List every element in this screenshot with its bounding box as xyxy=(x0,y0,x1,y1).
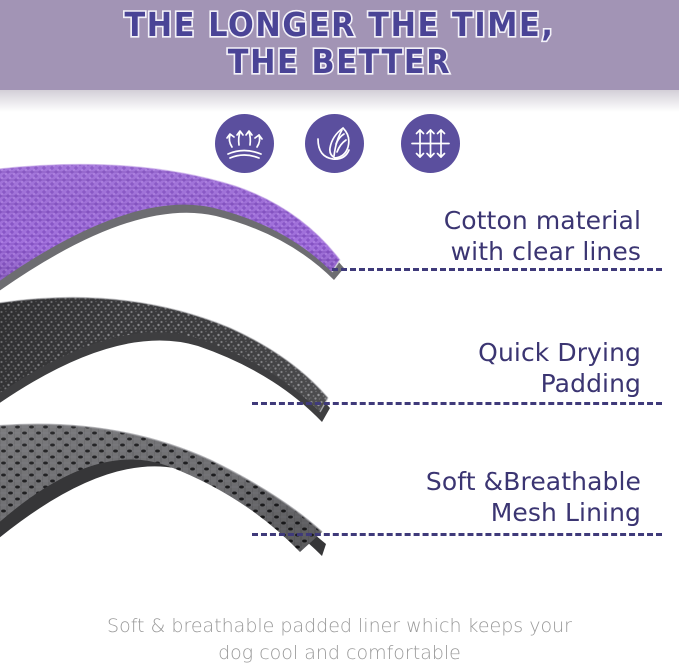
connector-line-mesh xyxy=(252,533,662,536)
product-infographic: THE LONGER THE TIME, THE BETTER xyxy=(0,0,679,669)
feature-label-mesh: Soft &Breathable Mesh Lining xyxy=(426,466,641,528)
header-shadow-divider xyxy=(0,90,679,112)
material-layer-stack xyxy=(0,160,430,610)
gray-mesh-lining-layer xyxy=(0,400,380,580)
page-title: THE LONGER THE TIME, THE BETTER xyxy=(0,6,679,80)
connector-line-cotton xyxy=(332,268,662,271)
bottom-caption: Soft & breathable padded liner which kee… xyxy=(0,613,679,667)
header-banner: THE LONGER THE TIME, THE BETTER xyxy=(0,0,679,90)
feature-label-cotton: Cotton material with clear lines xyxy=(444,205,641,267)
connector-line-padding xyxy=(252,402,662,405)
dark-foam-padding-layer xyxy=(0,260,380,450)
feature-label-padding: Quick Drying Padding xyxy=(478,337,641,399)
